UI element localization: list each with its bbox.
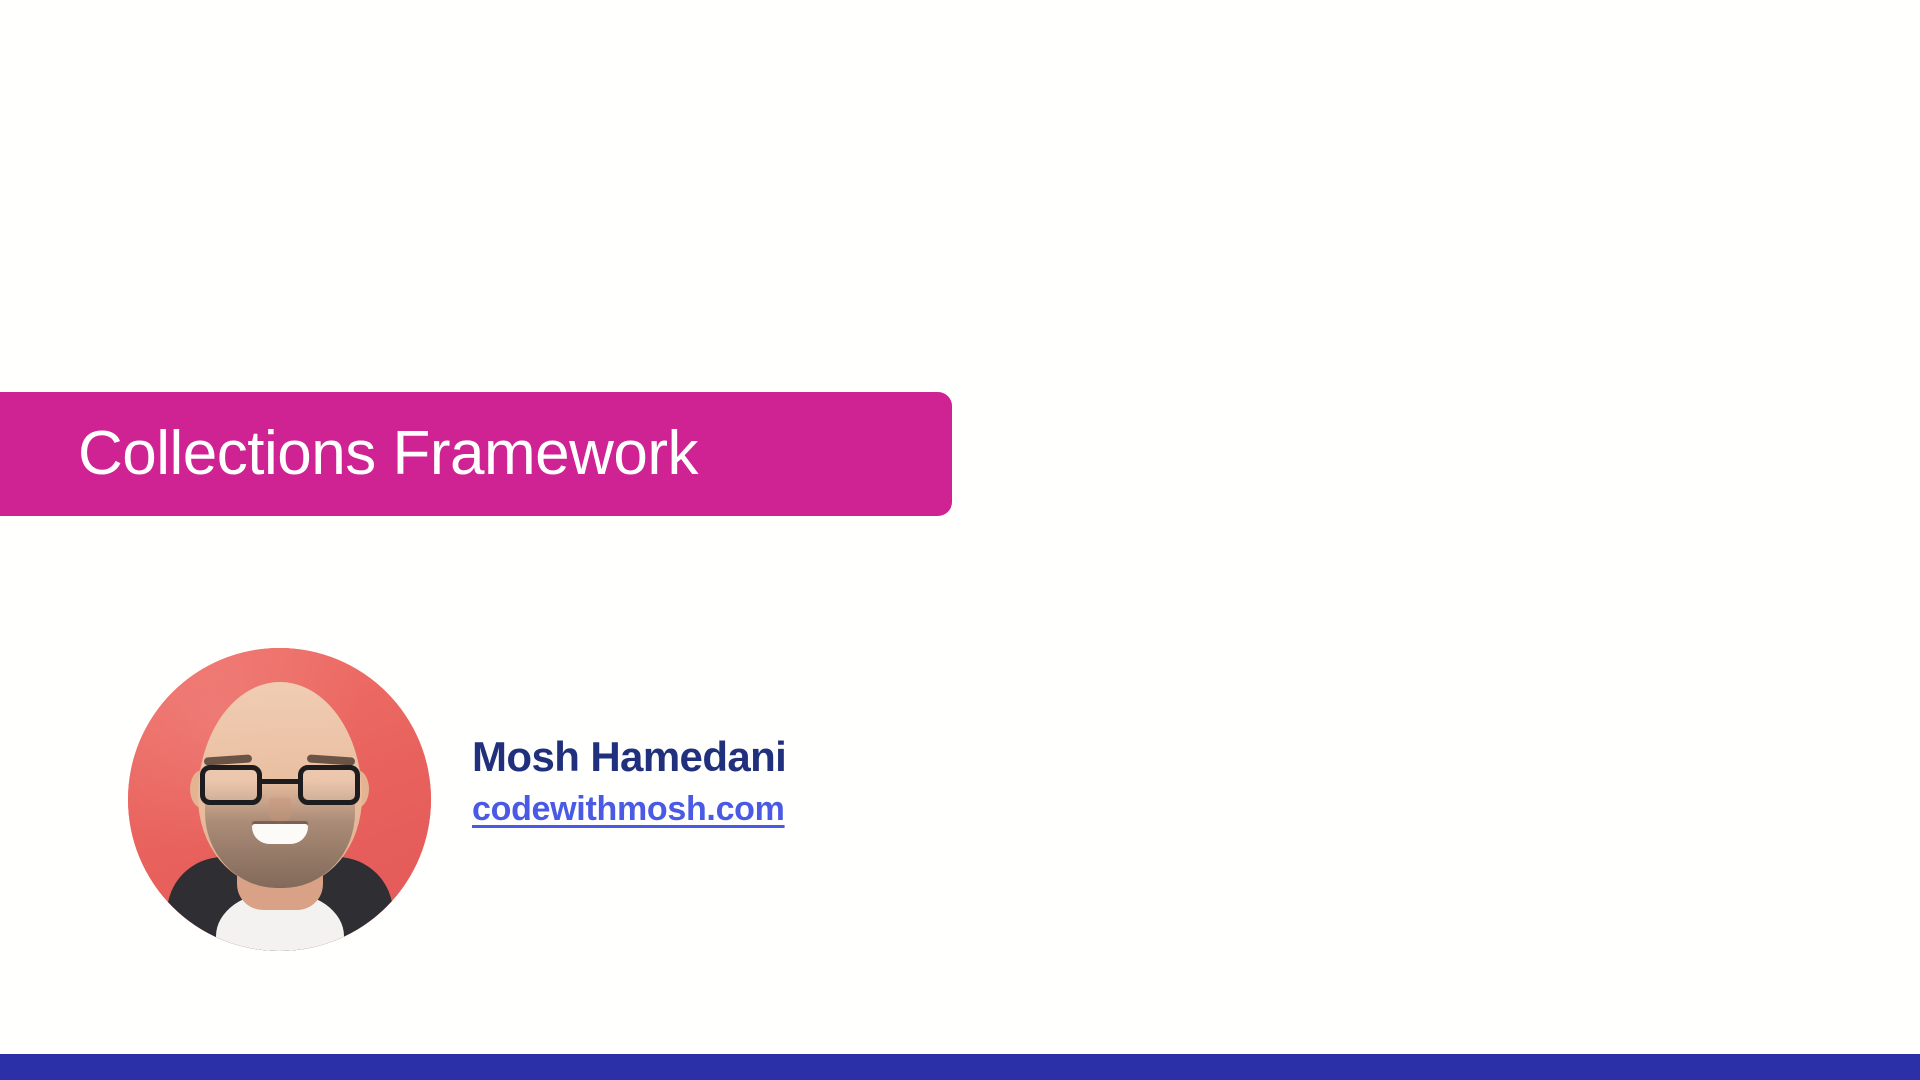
avatar-lens-right [298, 765, 360, 805]
presentation-slide: Collections Framework Mosh Hamedani cod [0, 0, 1920, 1080]
footer-accent-bar [0, 1054, 1920, 1080]
avatar-lens-left [200, 765, 262, 805]
presenter-details: Mosh Hamedani codewithmosh.com [472, 734, 786, 829]
presenter-block: Mosh Hamedani codewithmosh.com [128, 648, 888, 954]
presenter-avatar [128, 648, 431, 951]
title-banner: Collections Framework [0, 392, 952, 516]
avatar-smile [252, 824, 308, 844]
avatar-glasses-bridge [262, 779, 298, 784]
glasses-icon [200, 765, 360, 805]
slide-title: Collections Framework [78, 423, 698, 485]
presenter-website-link[interactable]: codewithmosh.com [472, 790, 785, 829]
presenter-name: Mosh Hamedani [472, 734, 786, 780]
